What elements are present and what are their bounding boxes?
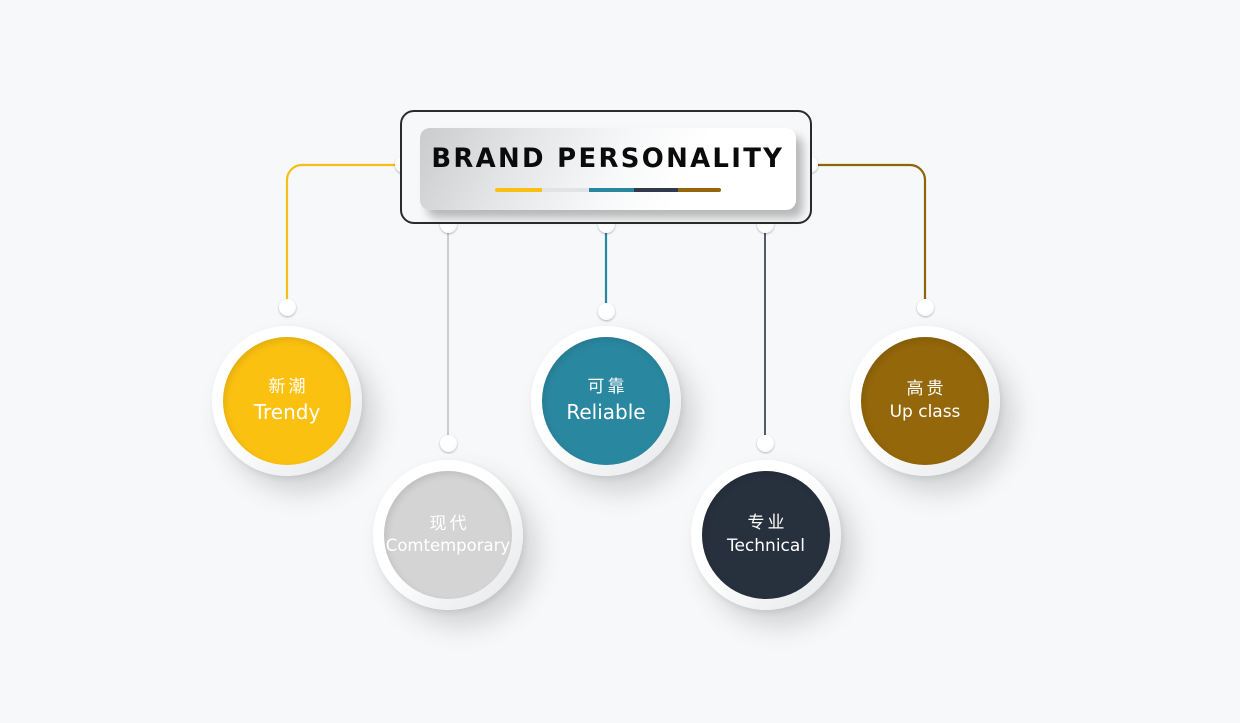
technical-accent bbox=[634, 188, 678, 192]
tip-dot-reliable bbox=[598, 303, 615, 320]
tip-dot-technical bbox=[757, 435, 774, 452]
upclass-accent bbox=[678, 188, 721, 192]
diagram-canvas: BRAND PERSONALITY 新潮 Trendy 现代 Comtempor… bbox=[0, 0, 1240, 723]
node-label-en: Reliable bbox=[566, 400, 645, 425]
node-label-cn: 可靠 bbox=[585, 377, 628, 398]
reliable-accent bbox=[589, 188, 634, 192]
node-technical[interactable]: 专业 Technical bbox=[691, 460, 841, 610]
page-title: BRAND PERSONALITY bbox=[432, 143, 785, 174]
connector-upclass bbox=[809, 165, 925, 307]
node-label-cn: 专业 bbox=[745, 513, 788, 534]
node-label-cn: 高贵 bbox=[904, 379, 947, 400]
tip-dot-upclass bbox=[917, 299, 934, 316]
accent-bar bbox=[495, 188, 721, 192]
comtemporary-accent bbox=[542, 188, 589, 192]
node-reliable[interactable]: 可靠 Reliable bbox=[531, 326, 681, 476]
node-label-en: Trendy bbox=[254, 400, 321, 425]
header-frame: BRAND PERSONALITY bbox=[400, 110, 812, 224]
node-disc: 现代 Comtemporary bbox=[384, 471, 512, 599]
node-comtemporary[interactable]: 现代 Comtemporary bbox=[373, 460, 523, 610]
node-disc: 高贵 Up class bbox=[861, 337, 989, 465]
node-label-en: Up class bbox=[890, 402, 961, 423]
header-panel: BRAND PERSONALITY bbox=[420, 128, 796, 210]
node-trendy[interactable]: 新潮 Trendy bbox=[212, 326, 362, 476]
tip-dot-trendy bbox=[279, 299, 296, 316]
connector-trendy bbox=[287, 165, 403, 307]
node-disc: 专业 Technical bbox=[702, 471, 830, 599]
node-upclass[interactable]: 高贵 Up class bbox=[850, 326, 1000, 476]
node-label-cn: 现代 bbox=[427, 514, 470, 535]
trendy-accent bbox=[495, 188, 542, 192]
tip-dot-comtemporary bbox=[440, 435, 457, 452]
node-disc: 新潮 Trendy bbox=[223, 337, 351, 465]
node-label-en: Comtemporary bbox=[386, 536, 510, 557]
node-label-en: Technical bbox=[727, 536, 805, 557]
node-disc: 可靠 Reliable bbox=[542, 337, 670, 465]
node-label-cn: 新潮 bbox=[266, 377, 309, 398]
